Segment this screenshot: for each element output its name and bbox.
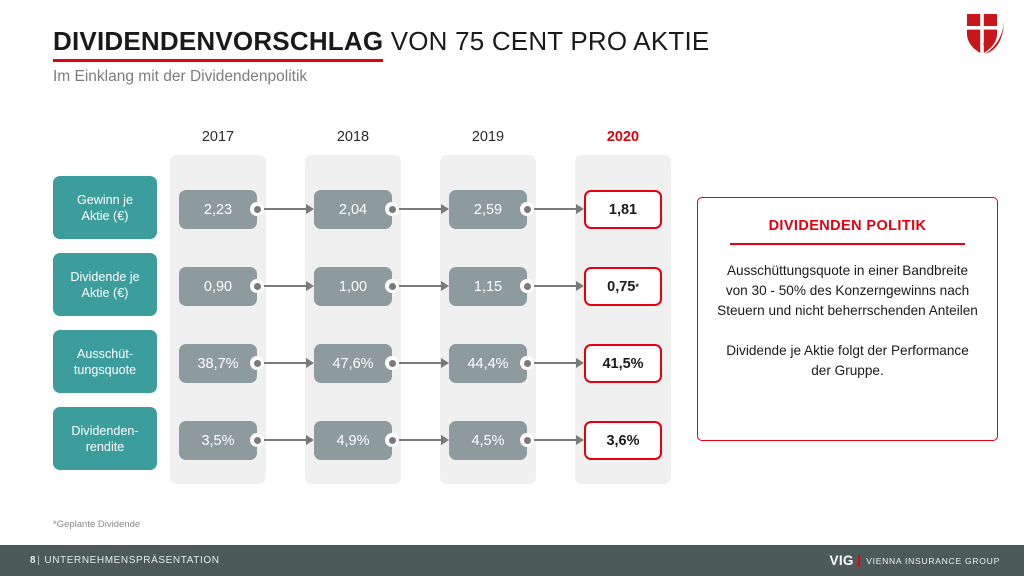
value-rendite-2018: 4,9% (314, 421, 392, 460)
value-quote-2019: 44,4% (449, 344, 527, 383)
footer-separator: | (37, 555, 40, 566)
value-quote-2020: 41,5% (584, 344, 662, 383)
row-label-line2: rendite (86, 440, 125, 454)
flow-arrow (264, 434, 314, 446)
row-label-line1: Dividende je (70, 270, 139, 284)
connector-dot (385, 279, 399, 293)
connector-dot (520, 279, 534, 293)
value-text: 0,75 (607, 279, 635, 295)
connector-dot (250, 202, 264, 216)
flow-arrow (534, 357, 584, 369)
footer-section-label: UNTERNEHMENSPRÄSENTATION (44, 555, 219, 566)
row-label-line2: Aktie (€) (82, 209, 129, 223)
dividend-policy-title: DIVIDENDEN POLITIK (716, 218, 979, 243)
flow-arrow (264, 203, 314, 215)
flow-arrow (399, 434, 449, 446)
brand-short-label: VIG (830, 553, 854, 568)
value-dividende-2017: 0,90 (179, 267, 257, 306)
value-rendite-2017: 3,5% (179, 421, 257, 460)
connector-dot (385, 433, 399, 447)
connector-dot (520, 202, 534, 216)
vig-shield-logo-icon (964, 12, 1006, 56)
value-gewinn-2020: 1,81 (584, 190, 662, 229)
dividend-policy-box: DIVIDENDEN POLITIK Ausschüttungsquote in… (697, 197, 998, 441)
flow-arrow (534, 203, 584, 215)
brand-separator-bar (858, 555, 861, 567)
value-rendite-2020: 3,6% (584, 421, 662, 460)
year-label-2018: 2018 (305, 129, 401, 145)
row-label-line1: Dividenden- (71, 424, 138, 438)
flow-arrow (534, 280, 584, 292)
row-label-ausschuettungsquote: Ausschüt-tungsquote (53, 330, 157, 393)
dividend-chart: 2017 2018 2019 2020 Gewinn jeAktie (€) D… (0, 0, 700, 500)
year-label-2017: 2017 (170, 129, 266, 145)
row-label-dividendenrendite: Dividenden-rendite (53, 407, 157, 470)
value-gewinn-2018: 2,04 (314, 190, 392, 229)
flow-arrow (399, 280, 449, 292)
flow-arrow (399, 203, 449, 215)
row-label-line2: tungsquote (74, 363, 136, 377)
row-label-line1: Gewinn je (77, 193, 133, 207)
page-number: 8 (30, 555, 36, 566)
flow-arrow (534, 434, 584, 446)
footer-brand-group: VIG VIENNA INSURANCE GROUP (830, 553, 1000, 568)
dividend-policy-paragraph-1: Ausschüttungsquote in einer Bandbreite v… (716, 261, 979, 321)
row-label-line2: Aktie (€) (82, 286, 129, 300)
value-gewinn-2017: 2,23 (179, 190, 257, 229)
value-dividende-2020: 0,75* (584, 267, 662, 306)
connector-dot (250, 356, 264, 370)
value-dividende-2019: 1,15 (449, 267, 527, 306)
connector-dot (520, 433, 534, 447)
value-rendite-2019: 4,5% (449, 421, 527, 460)
footer-bar: 8|UNTERNEHMENSPRÄSENTATION VIG VIENNA IN… (0, 545, 1024, 576)
flow-arrow (264, 280, 314, 292)
value-gewinn-2019: 2,59 (449, 190, 527, 229)
year-label-2020: 2020 (575, 129, 671, 145)
connector-dot (385, 202, 399, 216)
footer-left-group: 8|UNTERNEHMENSPRÄSENTATION (30, 555, 220, 566)
footnote-text: *Geplante Dividende (53, 519, 140, 530)
connector-dot (385, 356, 399, 370)
row-label-line1: Ausschüt- (77, 347, 133, 361)
brand-full-label: VIENNA INSURANCE GROUP (866, 556, 1000, 566)
flow-arrow (264, 357, 314, 369)
row-label-gewinn-je-aktie: Gewinn jeAktie (€) (53, 176, 157, 239)
dividend-policy-paragraph-2: Dividende je Aktie folgt der Performance… (716, 341, 979, 381)
value-dividende-2018: 1,00 (314, 267, 392, 306)
year-label-2019: 2019 (440, 129, 536, 145)
connector-dot (250, 279, 264, 293)
connector-dot (250, 433, 264, 447)
value-quote-2017: 38,7% (179, 344, 257, 383)
connector-dot (520, 356, 534, 370)
row-label-dividende-je-aktie: Dividende jeAktie (€) (53, 253, 157, 316)
divider (730, 243, 965, 245)
flow-arrow (399, 357, 449, 369)
value-quote-2018: 47,6% (314, 344, 392, 383)
